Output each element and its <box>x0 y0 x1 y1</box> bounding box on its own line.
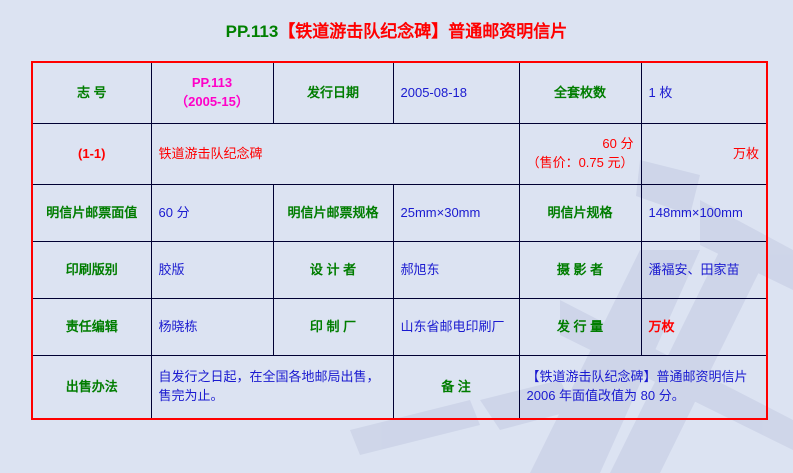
value-printer: 山东省邮电印刷厂 <box>393 299 519 356</box>
table-row: 出售办法 自发行之日起，在全国各地邮局出售，售完为止。 备 注 【铁道游击队纪念… <box>32 356 767 420</box>
value-remark: 【铁道游击队纪念碑】普通邮资明信片 2006 年面值改值为 80 分。 <box>519 356 767 420</box>
table-row: 印刷版别 胶版 设 计 者 郝旭东 摄 影 者 潘福安、田家苗 <box>32 242 767 299</box>
label-card-size: 明信片规格 <box>519 185 641 242</box>
face-value-price: （售价：0.75 元） <box>527 154 634 173</box>
label-stamp-face-value: 明信片邮票面值 <box>32 185 151 242</box>
value-photographer: 潘福安、田家苗 <box>641 242 767 299</box>
table-row: 明信片邮票面值 60 分 明信片邮票规格 25mm×30mm 明信片规格 148… <box>32 185 767 242</box>
label-printer: 印 制 厂 <box>273 299 393 356</box>
label-issue-date: 发行日期 <box>273 62 393 124</box>
postcard-spec-page: PP.113【铁道游击队纪念碑】普通邮资明信片 志 号 PP.113 （2005… <box>0 0 793 473</box>
label-stamp-size: 明信片邮票规格 <box>273 185 393 242</box>
value-designer: 郝旭东 <box>393 242 519 299</box>
label-print-method: 印刷版别 <box>32 242 151 299</box>
value-serial-number: PP.113 （2005-15） <box>151 62 273 124</box>
value-issue-volume: 万枚 <box>641 299 767 356</box>
label-editor: 责任编辑 <box>32 299 151 356</box>
value-issue-date: 2005-08-18 <box>393 62 519 124</box>
page-title-name: 【铁道游击队纪念碑】普通邮资明信片 <box>278 22 567 41</box>
table-row: (1-1) 铁道游击队纪念碑 60 分 （售价：0.75 元） 万枚 <box>32 124 767 185</box>
value-stamp-size: 25mm×30mm <box>393 185 519 242</box>
label-designer: 设 计 者 <box>273 242 393 299</box>
table-row: 志 号 PP.113 （2005-15） 发行日期 2005-08-18 全套枚… <box>32 62 767 124</box>
page-title: PP.113【铁道游击队纪念碑】普通邮资明信片 <box>0 0 793 42</box>
serial-year: （2005-15） <box>159 93 266 112</box>
postcard-spec-table: 志 号 PP.113 （2005-15） 发行日期 2005-08-18 全套枚… <box>31 61 768 420</box>
value-stamp-name: 铁道游击队纪念碑 <box>151 124 519 185</box>
label-issue-volume: 发 行 量 <box>519 299 641 356</box>
value-print-quantity: 万枚 <box>641 124 767 185</box>
label-set-count: 全套枚数 <box>519 62 641 124</box>
value-stamp-face-value: 60 分 <box>151 185 273 242</box>
serial-code: PP.113 <box>159 74 266 93</box>
value-editor: 杨晓栋 <box>151 299 273 356</box>
label-sale-method: 出售办法 <box>32 356 151 420</box>
label-photographer: 摄 影 者 <box>519 242 641 299</box>
value-face-value: 60 分 （售价：0.75 元） <box>519 124 641 185</box>
value-sale-method: 自发行之日起，在全国各地邮局出售，售完为止。 <box>151 356 393 420</box>
face-value-amount: 60 分 <box>527 135 634 154</box>
label-serial-number: 志 号 <box>32 62 151 124</box>
label-remark: 备 注 <box>393 356 519 420</box>
value-stamp-index: (1-1) <box>32 124 151 185</box>
value-set-count: 1 枚 <box>641 62 767 124</box>
table-row: 责任编辑 杨晓栋 印 制 厂 山东省邮电印刷厂 发 行 量 万枚 <box>32 299 767 356</box>
value-card-size: 148mm×100mm <box>641 185 767 242</box>
value-print-method: 胶版 <box>151 242 273 299</box>
page-title-code: PP.113 <box>226 22 279 41</box>
